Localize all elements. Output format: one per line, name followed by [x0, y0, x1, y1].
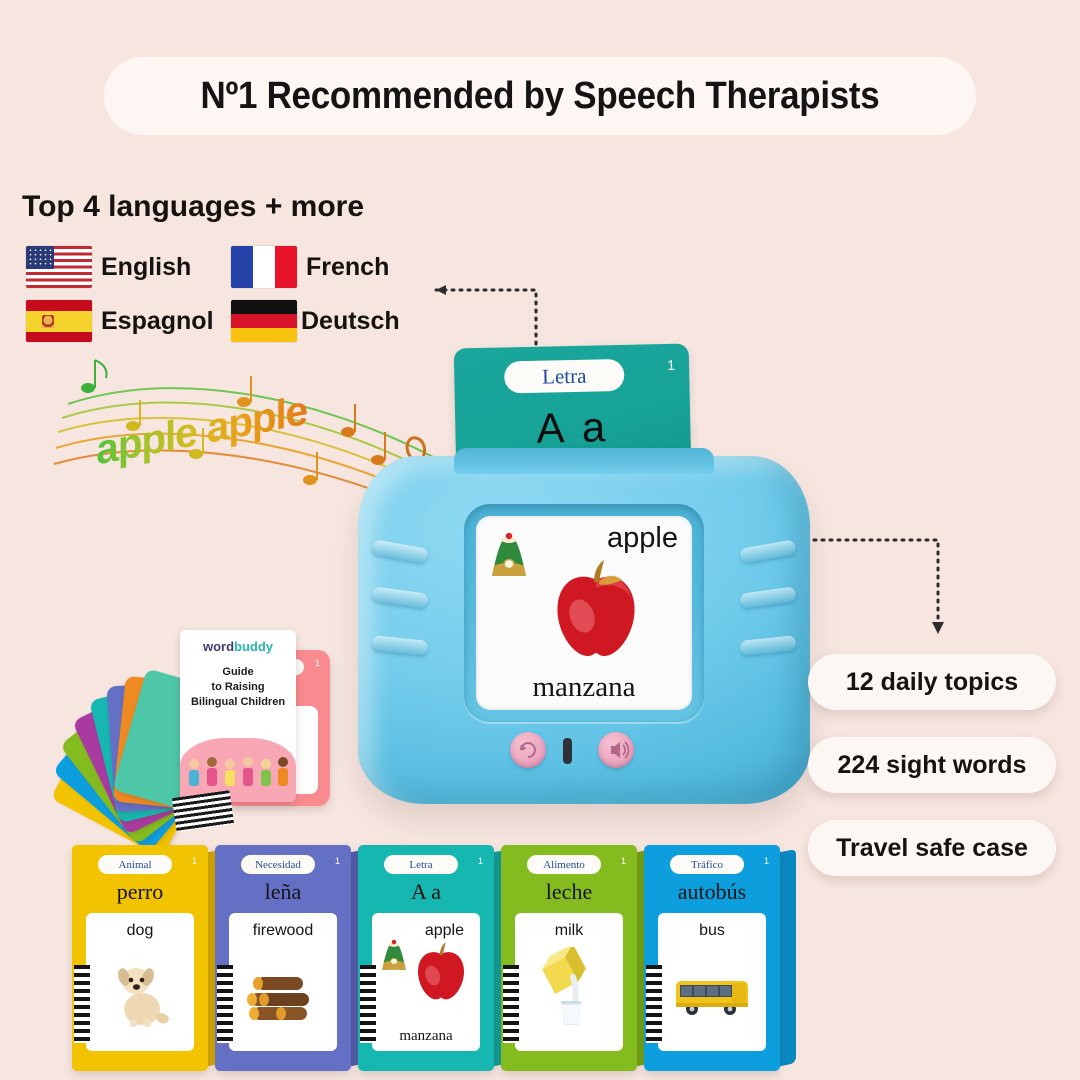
- language-row-1: English French: [26, 240, 400, 294]
- card-word-spanish: A a: [358, 879, 494, 905]
- card-word-english: firewood: [229, 922, 337, 940]
- grip-ridge: [371, 539, 429, 563]
- card-category-pill: Tráfico: [670, 855, 744, 874]
- card-word-english: apple: [372, 922, 480, 940]
- language-item-french: French: [231, 246, 389, 288]
- card-number: 1: [667, 357, 675, 373]
- children-icon: [180, 738, 296, 802]
- languages-title: Top 4 languages + more: [22, 190, 364, 224]
- card-category-pill: Necesidad: [241, 855, 315, 874]
- grip-ridge: [739, 586, 797, 609]
- card-number: 1: [315, 658, 320, 668]
- language-item-deutsch: Deutsch: [231, 300, 400, 342]
- card-word-spanish: autobús: [644, 879, 780, 905]
- booklet-title-line3: Bilingual Children: [180, 695, 296, 710]
- grip-ridge: [739, 635, 796, 656]
- card-category-pill: Animal: [98, 855, 172, 874]
- box-face: Letra 1 A a apple: [358, 845, 494, 1071]
- volume-button[interactable]: [598, 732, 634, 768]
- language-label: Espagnol: [101, 307, 214, 336]
- wordbuddy-logo: wordbuddy: [180, 639, 296, 654]
- card-category-label: Animal: [119, 859, 152, 871]
- card-word-spanish: leña: [215, 879, 351, 905]
- screen-word-english: apple: [607, 522, 678, 555]
- card-word-spanish-secondary: manzana: [372, 1028, 480, 1045]
- card-number: 1: [478, 856, 483, 866]
- bus-image: [670, 947, 754, 1031]
- bilingual-guide-booklet: wordbuddy Guide to Raising Bilingual Chi…: [180, 630, 296, 802]
- card-inner-panel: apple manzana: [372, 913, 480, 1051]
- spain-flag-icon: [26, 300, 92, 342]
- device-controls: [358, 732, 810, 772]
- flashcard-device: Letra 1 A a apple: [330, 338, 830, 838]
- language-label: English: [101, 253, 191, 282]
- card-inner-panel: bus: [658, 913, 766, 1051]
- flashcard-box-necesidad[interactable]: Necesidad 1 leña firewood: [215, 845, 367, 1071]
- milk-image: [527, 947, 611, 1031]
- card-category-label: Letra: [409, 859, 432, 871]
- card-inner-panel: firewood: [229, 913, 337, 1051]
- feature-pill-words: 224 sight words: [808, 737, 1056, 793]
- card-category-pill: Alimento: [527, 855, 601, 874]
- card-word-spanish: perro: [72, 879, 208, 905]
- card-category-label: Tráfico: [691, 859, 723, 871]
- feature-label: 12 daily topics: [846, 668, 1018, 697]
- card-word-spanish: leche: [501, 879, 637, 905]
- flashcard-box-row: Animal 1 perro dog: [72, 845, 1012, 1080]
- card-category-pill: Letra: [504, 359, 625, 394]
- card-number: 1: [621, 856, 626, 866]
- card-category-label: Alimento: [543, 859, 585, 871]
- card-word-english: milk: [515, 922, 623, 940]
- firewood-image: [241, 947, 325, 1031]
- card-word-english: dog: [86, 922, 194, 940]
- product-infographic: Nº1 Recommended by Speech Therapists Top…: [0, 0, 1080, 1080]
- feature-pill-topics: 12 daily topics: [808, 654, 1056, 710]
- card-edge-stripes: [646, 965, 662, 1043]
- box-face: Tráfico 1 autobús bus: [644, 845, 780, 1071]
- device-screen: apple manzana: [476, 516, 692, 710]
- language-label: French: [306, 253, 389, 282]
- card-edge-stripes: [503, 965, 519, 1043]
- language-item-espagnol: Espagnol: [26, 300, 231, 342]
- apple-image: [410, 941, 472, 1003]
- germany-flag-icon: [231, 300, 297, 342]
- speaker-icon: [598, 732, 634, 768]
- card-category-label: Letra: [542, 363, 587, 389]
- booklet-title-line1: Guide: [180, 665, 296, 680]
- card-number: 1: [192, 856, 197, 866]
- card-number: 1: [335, 856, 340, 866]
- card-edge-stripes: [74, 965, 90, 1043]
- decorated-letter-a-icon: [486, 532, 532, 586]
- card-category-pill: Letra: [384, 855, 458, 874]
- booklet-title: Guide to Raising Bilingual Children: [180, 665, 296, 710]
- card-word-english: bus: [658, 922, 766, 940]
- grip-ridge: [371, 586, 429, 609]
- grip-ridge: [371, 635, 428, 656]
- puppy-image: [98, 947, 182, 1031]
- header-banner: Nº1 Recommended by Speech Therapists: [104, 57, 976, 135]
- flashcard-box-animal[interactable]: Animal 1 perro dog: [72, 845, 224, 1071]
- card-letters: A a: [455, 402, 691, 455]
- red-apple-image: [544, 558, 648, 662]
- card-number: 1: [764, 856, 769, 866]
- card-category-label: Necesidad: [255, 859, 301, 871]
- card-fan-stack: 1 ir wordbuddy Guide to Raising Bilingua…: [72, 620, 372, 830]
- screen-frame: apple manzana: [464, 504, 704, 722]
- feature-label: 224 sight words: [838, 751, 1027, 780]
- grip-ridge: [739, 539, 797, 563]
- us-flag-icon: [26, 246, 92, 288]
- card-edge-stripes: [360, 965, 376, 1043]
- device-body: apple manzana: [358, 456, 810, 804]
- screen-word-spanish: manzana: [476, 671, 692, 704]
- language-label: Deutsch: [301, 307, 400, 336]
- language-list: English French Espagnol Deutsch: [26, 240, 400, 348]
- box-face: Necesidad 1 leña firewood: [215, 845, 351, 1071]
- banner-title: Nº1 Recommended by Speech Therapists: [201, 75, 880, 118]
- children-illustration: [180, 738, 296, 802]
- logo-part-buddy: buddy: [234, 639, 273, 654]
- card-edge-stripes: [217, 965, 233, 1043]
- card-inner-panel: dog: [86, 913, 194, 1051]
- decorated-letter-a-icon: [378, 939, 410, 977]
- france-flag-icon: [231, 246, 297, 288]
- logo-part-word: word: [203, 639, 234, 654]
- box-face: Alimento 1 leche milk: [501, 845, 637, 1071]
- flashcard-box-letra[interactable]: Letra 1 A a apple: [358, 845, 510, 1071]
- repeat-button[interactable]: [510, 732, 546, 768]
- box-face: Animal 1 perro dog: [72, 845, 208, 1071]
- card-slot: [454, 448, 714, 474]
- language-item-english: English: [26, 246, 231, 288]
- microphone-slot: [563, 738, 572, 764]
- card-edge-stripes: [172, 790, 234, 832]
- flashcard-box-trafico[interactable]: Tráfico 1 autobús bus: [644, 845, 796, 1071]
- flashcard-box-alimento[interactable]: Alimento 1 leche milk: [501, 845, 653, 1071]
- booklet-title-line2: to Raising: [180, 680, 296, 695]
- repeat-icon: [510, 732, 546, 768]
- card-inner-panel: milk: [515, 913, 623, 1051]
